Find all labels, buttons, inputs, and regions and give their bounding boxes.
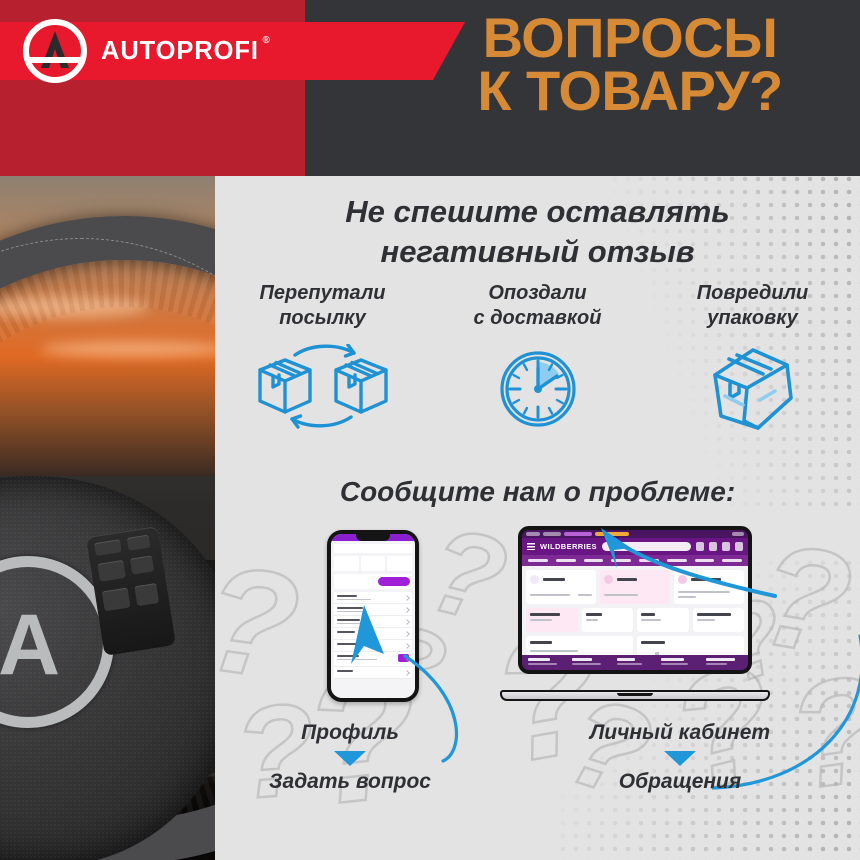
tab-notifications[interactable] — [667, 559, 687, 563]
phone-menu-item[interactable] — [334, 667, 412, 679]
site-footer — [522, 655, 748, 670]
phone-menu-item[interactable] — [334, 628, 412, 640]
control-button-3 — [97, 560, 125, 582]
cta-heading: Сообщите нам о проблеме: — [215, 476, 860, 508]
registered-mark: ® — [263, 35, 271, 46]
location-pin-icon[interactable] — [696, 542, 704, 551]
footer-col — [661, 658, 697, 667]
headline-line2: негативный отзыв — [215, 232, 860, 272]
down-triangle-icon — [334, 751, 366, 766]
car-badge-letter: A — [0, 596, 60, 695]
dashboard-row-top — [526, 570, 744, 604]
page-title-line1: ВОПРОСЫ — [420, 12, 840, 65]
page-title-line2: К ТОВАРУ? — [420, 65, 840, 118]
menu-icon[interactable] — [527, 543, 535, 550]
site-logo: WILDBERRIES — [540, 542, 597, 551]
phone-mockup[interactable] — [327, 530, 419, 702]
callout-account: Личный кабинет Обращения — [545, 721, 815, 794]
card-bonuses[interactable] — [582, 608, 634, 632]
control-button-2 — [127, 535, 151, 551]
callout-profile: Профиль Задать вопрос — [235, 721, 465, 794]
brand-name-text: AUTOPROFI — [101, 37, 259, 65]
reason-label: Повредили упаковку — [645, 281, 860, 331]
poster-canvas: ? ? ? ? ? ? ? ? ? ? ? ? AUTOPR — [0, 0, 860, 860]
account-dashboard — [522, 566, 748, 655]
card-purchases[interactable] — [674, 570, 744, 604]
navbar-icons — [696, 542, 743, 551]
card-profile[interactable] — [526, 570, 596, 604]
phone-stat-tile — [334, 556, 359, 571]
headline-line1: Не спешите оставлять — [215, 192, 860, 232]
phone-menu-item[interactable] — [334, 640, 412, 652]
dashboard-row-mid — [526, 608, 744, 632]
two-boxes-swap-icon — [215, 343, 430, 435]
laptop-mockup[interactable]: WILDBERRIES — [500, 526, 770, 701]
card-delivery[interactable] — [600, 570, 670, 604]
site-topbar — [522, 530, 748, 538]
control-button-4 — [130, 555, 154, 574]
reason-item-damaged-package: Повредили упаковку — [645, 281, 860, 435]
device-mockups: WILDBERRIES — [215, 526, 860, 706]
control-button-6 — [134, 583, 159, 606]
callout-top-label: Личный кабинет — [545, 721, 815, 745]
phone-stat-tile — [387, 556, 412, 571]
footer-col — [706, 658, 742, 667]
callout-bottom-label: Обращения — [545, 770, 815, 794]
search-input[interactable] — [602, 542, 691, 551]
footer-col — [528, 658, 564, 667]
footer-col — [617, 658, 653, 667]
tab-wallet[interactable] — [695, 559, 715, 563]
circle-a-logo-icon — [20, 16, 90, 86]
favorites-icon[interactable] — [722, 542, 730, 551]
headline: Не спешите оставлять негативный отзыв — [215, 192, 860, 271]
site-tabs — [522, 555, 748, 566]
header-band: AUTOPROFI ® ВОПРОСЫ К ТОВАРУ? — [0, 0, 860, 176]
down-triangle-icon — [664, 751, 696, 766]
phone-menu-item[interactable] — [334, 604, 412, 616]
callout-top-label: Профиль — [235, 721, 465, 745]
control-button-5 — [102, 588, 131, 612]
card-payment-methods[interactable] — [526, 608, 578, 632]
cart-icon[interactable] — [735, 542, 743, 551]
callout-bottom-label: Задать вопрос — [235, 770, 465, 794]
tab-returns[interactable] — [584, 559, 604, 563]
tab-favorites[interactable] — [556, 559, 576, 563]
phone-menu-item[interactable] — [334, 616, 412, 628]
chat-bubble-icon — [398, 654, 409, 662]
content-column: Не спешите оставлять негативный отзыв Пе… — [215, 176, 860, 860]
site-navbar: WILDBERRIES — [522, 538, 748, 555]
phone-menu-item-ask-question[interactable] — [334, 652, 412, 667]
phone-screen — [331, 541, 415, 698]
tab-profile[interactable] — [722, 559, 742, 563]
phone-stat-tile — [361, 556, 386, 571]
footer-col — [572, 658, 608, 667]
page-title: ВОПРОСЫ К ТОВАРУ? — [420, 12, 840, 117]
steering-wheel-cover-photo: A — [0, 176, 215, 860]
reason-label: Опоздали с доставкой — [430, 281, 645, 331]
phone-menu-item[interactable] — [334, 592, 412, 604]
reason-item-late-delivery: Опоздали с доставкой — [430, 281, 645, 435]
card-favorite-brands[interactable] — [693, 608, 745, 632]
control-button-1 — [94, 539, 122, 556]
laptop-screen: WILDBERRIES — [518, 526, 752, 674]
brand-logo: AUTOPROFI ® — [20, 16, 259, 86]
brand-name: AUTOPROFI ® — [101, 37, 259, 66]
reasons-row: Перепутали посылку — [215, 281, 860, 435]
tab-orders[interactable] — [528, 559, 548, 563]
callout-row: Профиль Задать вопрос Личный кабинет Обр… — [215, 721, 860, 841]
tab-appeals[interactable] — [639, 559, 659, 563]
phone-screen-title — [334, 544, 412, 553]
damaged-box-icon — [645, 343, 860, 435]
clock-icon — [430, 343, 645, 435]
profile-icon[interactable] — [709, 542, 717, 551]
reason-item-mixed-parcel: Перепутали посылку — [215, 281, 430, 435]
card-reviews[interactable] — [637, 608, 689, 632]
laptop-base — [500, 690, 770, 701]
phone-notch — [356, 534, 390, 541]
phone-action-pill[interactable] — [378, 577, 410, 586]
reason-label: Перепутали посылку — [215, 281, 430, 331]
tab-reviews[interactable] — [611, 559, 631, 563]
phone-menu-list — [334, 592, 412, 679]
phone-balance-row — [334, 574, 412, 589]
phone-stat-tiles — [334, 556, 412, 571]
